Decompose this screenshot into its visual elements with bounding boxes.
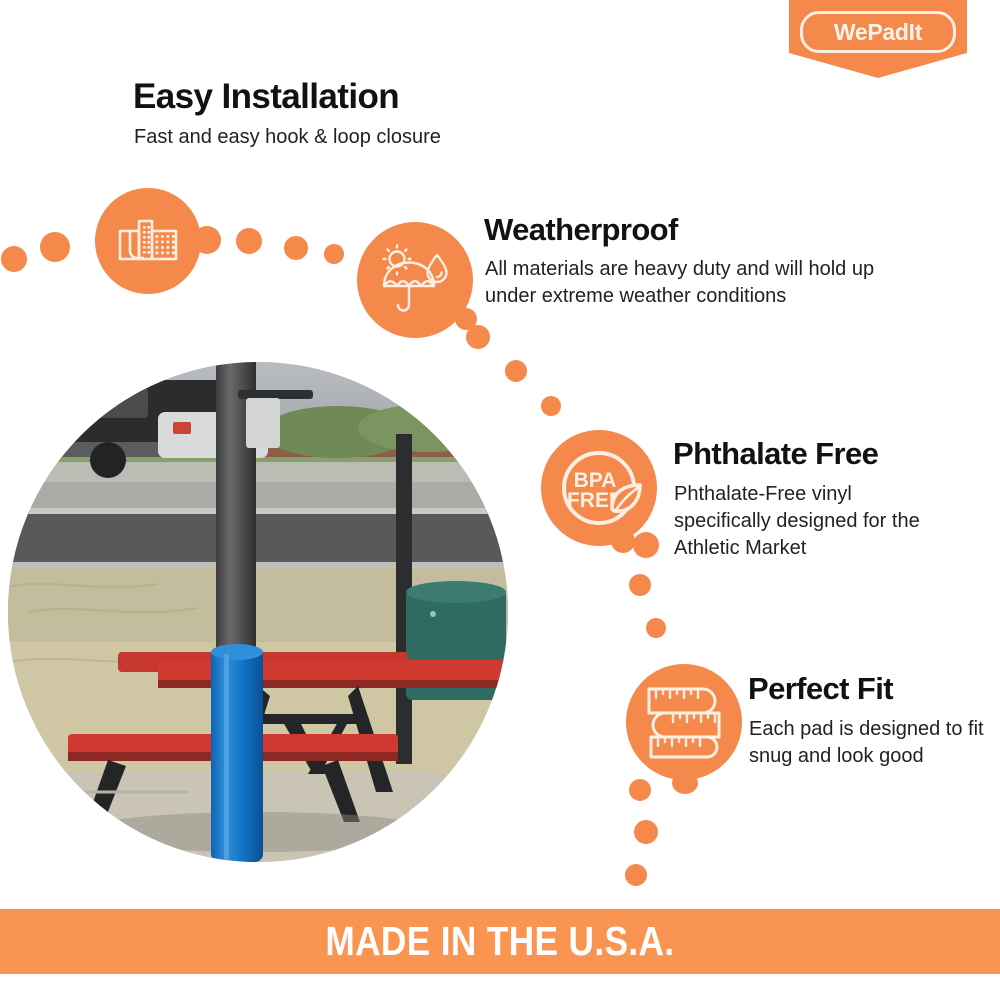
trail-dot: [611, 529, 635, 553]
feature-title-phthalate-free: Phthalate Free: [673, 438, 878, 471]
logo-text-it: It: [909, 19, 922, 45]
umbrella-sun-raindrop-icon: [378, 245, 452, 315]
logo-text-pad: Pad: [867, 19, 908, 45]
bubble-nub-bottom: [672, 772, 698, 794]
feature-body-easy-installation: Fast and easy hook & loop closure: [134, 124, 554, 151]
trail-dot: [629, 574, 651, 596]
bubble-nub-bottom: [633, 532, 659, 558]
brand-logo: WePadIt: [789, 0, 967, 78]
building-pad-icon: [118, 217, 178, 265]
logo-outline-box: WePadIt: [800, 11, 956, 53]
product-photo: [8, 362, 508, 862]
trail-dot: [284, 236, 308, 260]
infographic-canvas: WePadIt Easy Installation Fast and easy …: [0, 0, 1000, 987]
feature-body-weatherproof: All materials are heavy duty and will ho…: [485, 256, 915, 310]
logo-text-we: We: [834, 19, 868, 45]
made-in-usa-text: MADE IN THE U.S.A.: [325, 918, 674, 965]
feature-title-perfect-fit: Perfect Fit: [748, 673, 893, 706]
icon-bubble-easy-installation: [95, 188, 201, 294]
trail-dot: [193, 226, 221, 254]
trail-dot: [629, 779, 651, 801]
feature-body-phthalate-free: Phthalate-Free vinyl specifically design…: [674, 481, 944, 561]
product-photo-illustration: [8, 362, 508, 862]
trail-dot: [625, 864, 647, 886]
made-in-usa-banner: MADE IN THE U.S.A.: [0, 909, 1000, 974]
feature-title-easy-installation: Easy Installation: [133, 79, 399, 116]
feature-body-perfect-fit: Each pad is designed to fit snug and loo…: [749, 716, 984, 770]
icon-bubble-weatherproof: [357, 222, 473, 338]
trail-dot: [634, 820, 658, 844]
feature-title-weatherproof: Weatherproof: [484, 214, 678, 247]
icon-bubble-perfect-fit: [626, 664, 742, 780]
measuring-tape-icon: [641, 679, 727, 765]
trail-dot: [324, 244, 344, 264]
icon-bubble-phthalate-free: BPA FREE: [541, 430, 657, 546]
logo-wordmark: WePadIt: [834, 21, 922, 44]
trail-dot: [646, 618, 666, 638]
trail-dot: [541, 396, 561, 416]
trail-dot: [466, 325, 490, 349]
blue-pole-pad: [211, 644, 263, 862]
trail-dot: [40, 232, 70, 262]
bpa-free-leaf-icon: BPA FREE: [552, 441, 646, 535]
trail-dot: [1, 246, 27, 272]
trail-dot: [236, 228, 262, 254]
trail-dot: [505, 360, 527, 382]
